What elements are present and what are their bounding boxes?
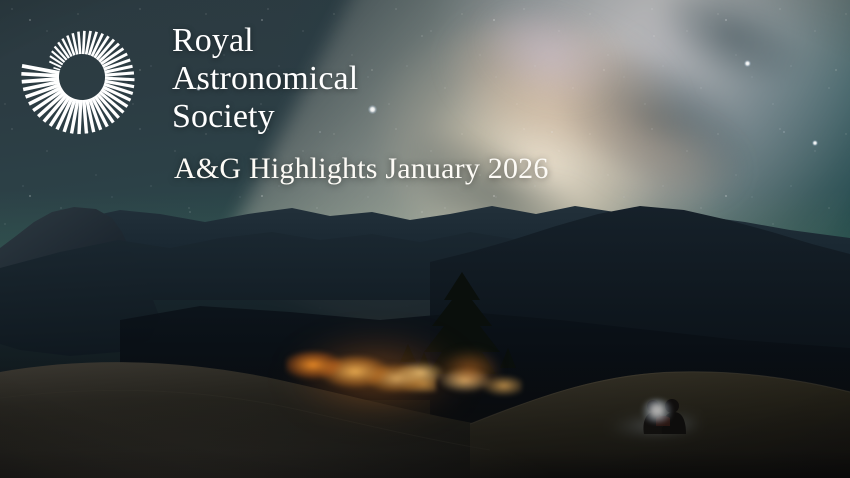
event-title: A&G Highlights January 2026 xyxy=(174,151,549,187)
headlamp-light xyxy=(640,399,674,423)
cliff-uplight-glow xyxy=(430,340,510,396)
org-name-line-2: Astronomical xyxy=(172,60,358,98)
event-banner-poster: Royal Astronomical Society A&G Highlight… xyxy=(0,0,850,478)
org-name-line-3: Society xyxy=(172,98,358,136)
org-name-line-1: Royal xyxy=(172,22,358,60)
ras-sunburst-logo-icon xyxy=(18,13,146,141)
organisation-name: Royal Astronomical Society xyxy=(172,22,358,136)
branding-block: Royal Astronomical Society A&G Highlight… xyxy=(0,0,850,210)
